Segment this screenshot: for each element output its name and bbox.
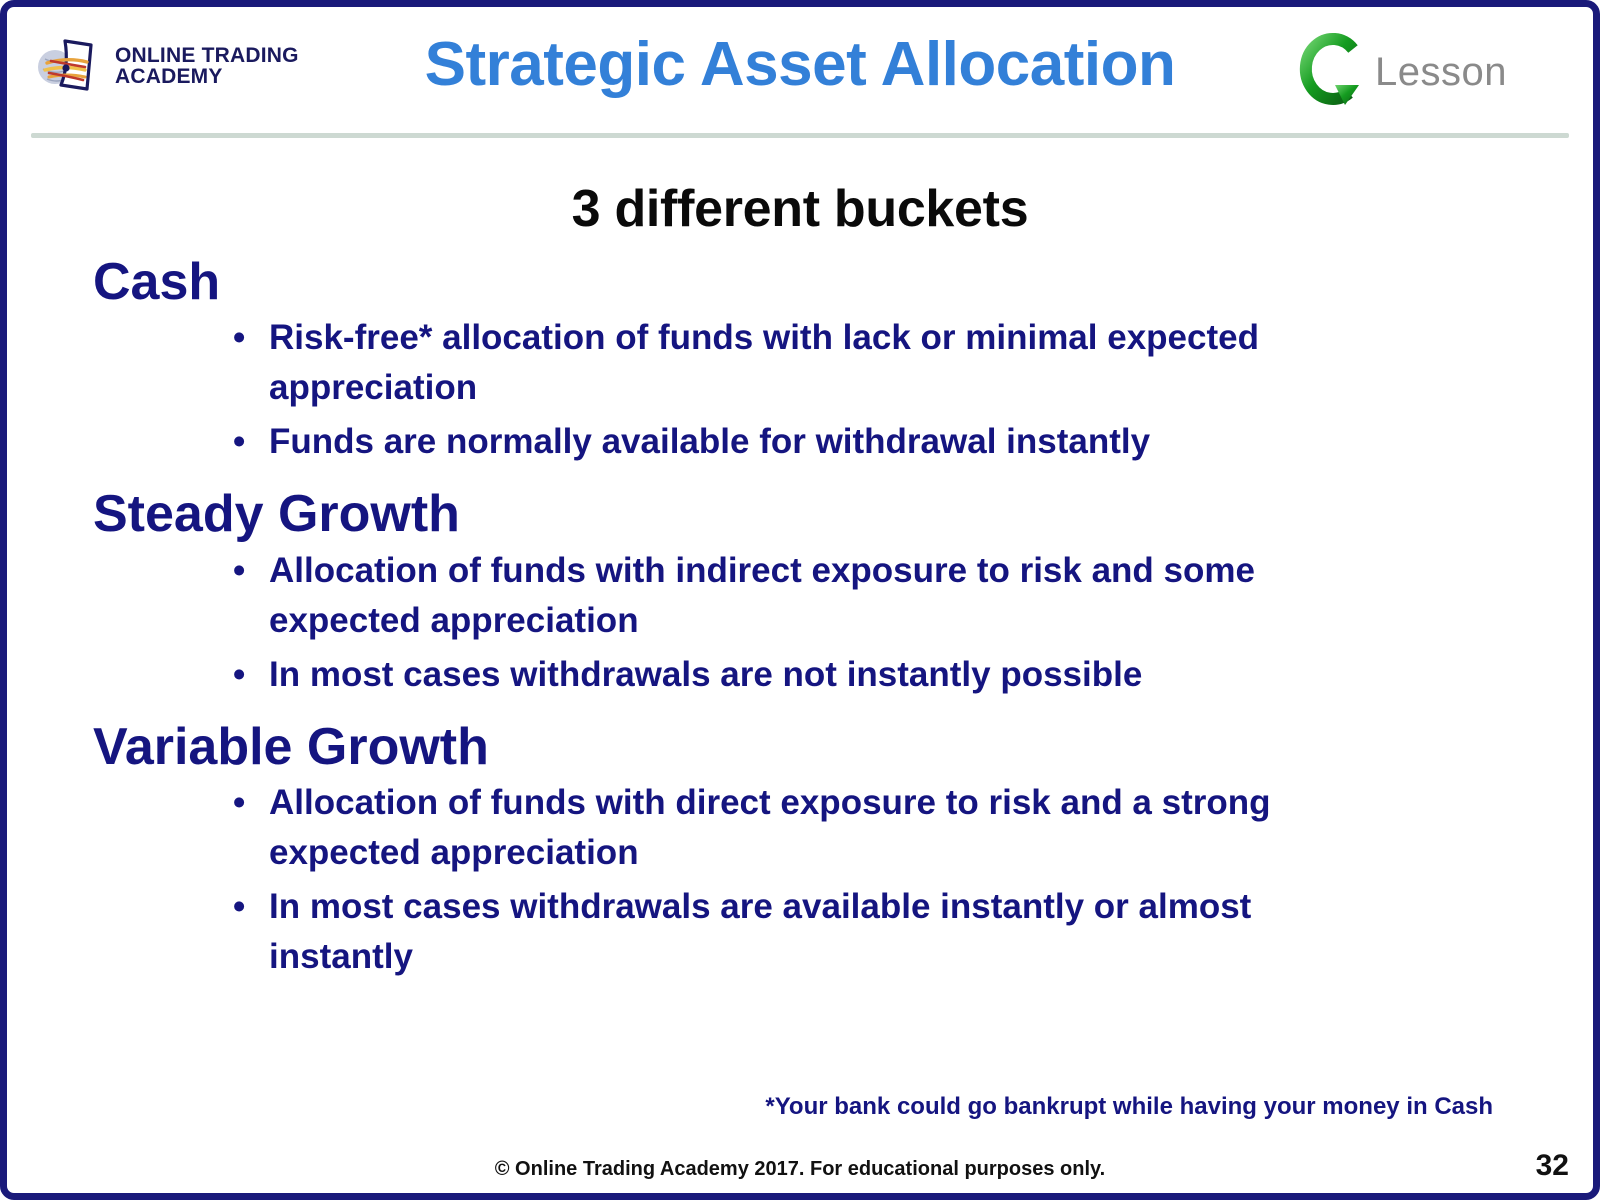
section-heading-variable-growth: Variable Growth [93, 718, 1553, 776]
footnote: *Your bank could go bankrupt while havin… [765, 1093, 1493, 1121]
green-circular-arrow-icon [1297, 31, 1371, 113]
section-variable-growth: Variable Growth • Allocation of funds wi… [93, 718, 1553, 982]
bullet-text: Funds are normally available for withdra… [233, 417, 1273, 467]
section-heading-steady-growth: Steady Growth [93, 485, 1553, 543]
header-divider [31, 133, 1569, 138]
section-cash: Cash • Risk-free* allocation of funds wi… [93, 253, 1553, 467]
bullet-text: In most cases withdrawals are not instan… [233, 650, 1273, 700]
bullet-text: Allocation of funds with direct exposure… [233, 778, 1273, 878]
bullet-marker-icon: • [93, 417, 233, 467]
slide-header: ONLINE TRADING ACADEMY Strategic Asset A… [7, 7, 1593, 133]
bullet-marker-icon: • [93, 313, 233, 363]
bullet-marker-icon: • [93, 546, 233, 596]
slide-content: Cash • Risk-free* allocation of funds wi… [7, 253, 1593, 982]
slide: ONLINE TRADING ACADEMY Strategic Asset A… [0, 0, 1600, 1200]
copyright-notice: © Online Trading Academy 2017. For educa… [7, 1158, 1593, 1181]
slide-subtitle: 3 different buckets [7, 179, 1593, 239]
list-item: • Funds are normally available for withd… [93, 417, 1273, 467]
bullet-text: Allocation of funds with indirect exposu… [233, 546, 1273, 646]
bullet-text: Risk-free* allocation of funds with lack… [233, 313, 1273, 413]
bullet-list-cash: • Risk-free* allocation of funds with la… [93, 313, 1553, 467]
list-item: • In most cases withdrawals are not inst… [93, 650, 1273, 700]
bullet-marker-icon: • [93, 650, 233, 700]
bullet-text: In most cases withdrawals are available … [233, 882, 1273, 982]
spacer [93, 704, 1553, 714]
spacer [93, 471, 1553, 481]
bullet-marker-icon: • [93, 778, 233, 828]
list-item: • Risk-free* allocation of funds with la… [93, 313, 1273, 413]
section-heading-cash: Cash [93, 253, 1553, 311]
list-item: • Allocation of funds with direct exposu… [93, 778, 1273, 878]
bullet-marker-icon: • [93, 882, 233, 932]
page-number: 32 [1536, 1149, 1569, 1183]
list-item: • Allocation of funds with indirect expo… [93, 546, 1273, 646]
list-item: • In most cases withdrawals are availabl… [93, 882, 1273, 982]
bullet-list-steady-growth: • Allocation of funds with indirect expo… [93, 546, 1553, 700]
lesson-badge-label: Lesson [1375, 50, 1507, 95]
section-steady-growth: Steady Growth • Allocation of funds with… [93, 485, 1553, 699]
lesson-badge: Lesson [1297, 31, 1507, 113]
bullet-list-variable-growth: • Allocation of funds with direct exposu… [93, 778, 1553, 982]
